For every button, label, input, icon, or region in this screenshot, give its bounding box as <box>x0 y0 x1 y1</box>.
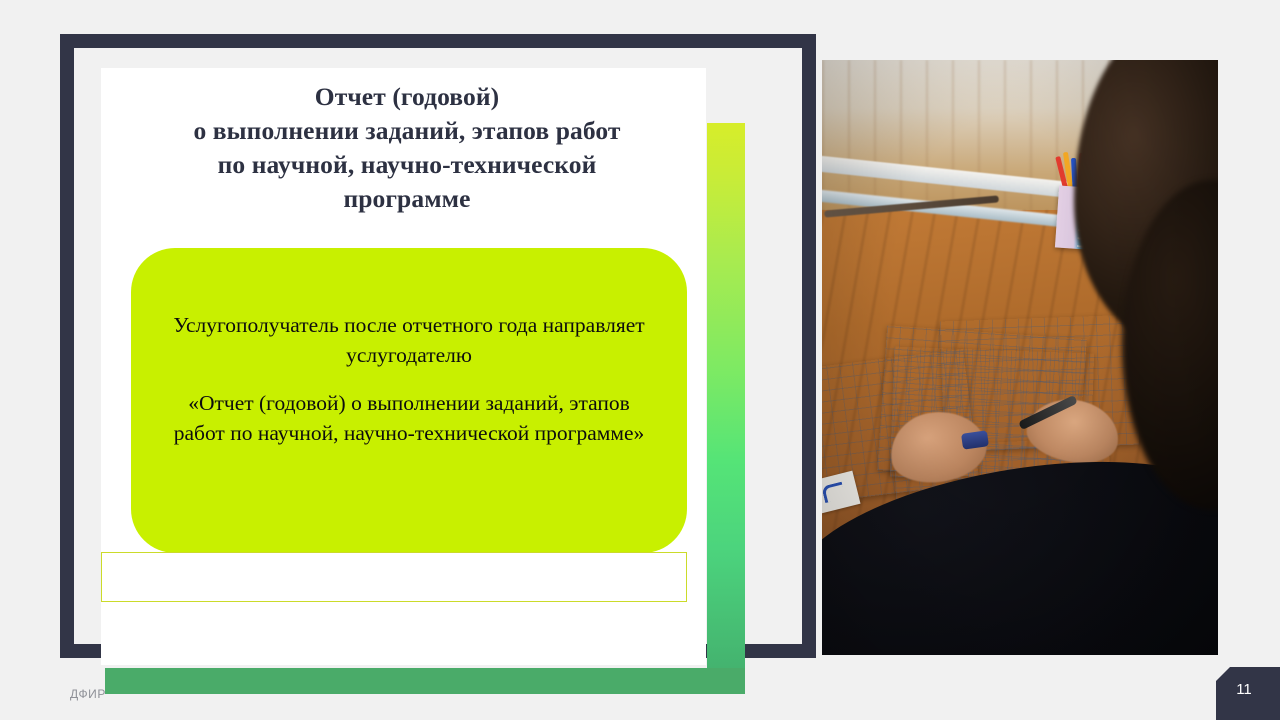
desk-blueprint-photo <box>822 60 1218 655</box>
callout-paragraph-2: «Отчет (годовой) о выполнении заданий, э… <box>165 388 653 448</box>
slide-title: Отчет (годовой) о выполнении заданий, эт… <box>137 80 677 216</box>
title-line-4: программе <box>137 182 677 216</box>
footer-label: ДФИР <box>70 687 106 701</box>
page-number-value: 11 <box>1216 681 1272 698</box>
title-line-3: по научной, научно-технической <box>137 148 677 182</box>
photo-vignette <box>822 60 1218 655</box>
callout-paragraph-1: Услугополучатель после отчетного года на… <box>165 310 653 370</box>
gradient-accent-bar <box>707 123 745 668</box>
footer-accent-bar <box>105 668 745 694</box>
slide-canvas: Отчет (годовой) о выполнении заданий, эт… <box>0 0 1280 720</box>
title-line-1: Отчет (годовой) <box>137 80 677 114</box>
highlight-callout: Услугополучатель после отчетного года на… <box>131 248 687 553</box>
title-line-2: о выполнении заданий, этапов работ <box>137 114 677 148</box>
empty-outlined-box <box>101 552 687 602</box>
page-number-badge: 11 <box>1216 667 1280 720</box>
